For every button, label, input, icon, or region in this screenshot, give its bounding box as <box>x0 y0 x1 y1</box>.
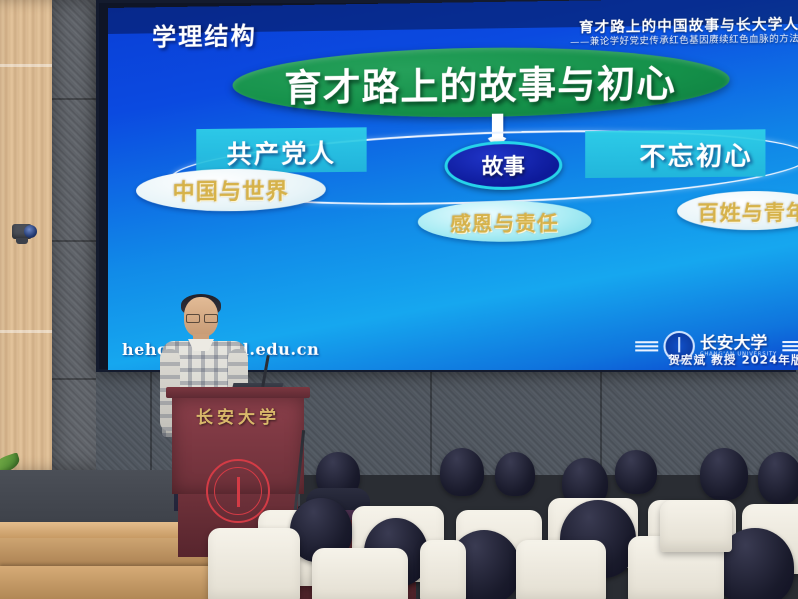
glasses-icon <box>186 314 216 321</box>
slide-label-center-bottom-text: 感恩与责任 <box>450 206 559 236</box>
logo-lines-left <box>635 341 658 351</box>
slide-label-left-bottom: 中国与世界 <box>136 168 326 212</box>
audience-head <box>758 452 798 504</box>
lectern-university-text: 长安大学 <box>172 403 304 428</box>
slide-section-heading: 学理结构 <box>152 16 257 53</box>
slide-header-subtitle: ——兼论学好党史传承红色基因赓续红色血脉的方法 <box>570 36 798 49</box>
lectern-top <box>166 387 310 398</box>
slide-main-ellipse: 育才路上的故事与初心 <box>233 44 730 119</box>
slide-footer-credit: 贺宏斌 教授 2024年版 <box>668 351 798 368</box>
logo-lines-right <box>782 341 798 351</box>
slide-label-left-bottom-text: 中国与世界 <box>173 173 289 206</box>
audience-seat <box>208 528 300 599</box>
slide-header: 育才路上的中国故事与长大学人 ——兼论学好党史传承红色基因赓续红色血脉的方法 <box>570 18 798 49</box>
audience-head <box>615 450 657 494</box>
audience-seat <box>312 548 408 599</box>
slide-label-left-top: 共产党人 <box>204 133 358 171</box>
slide-label-right-top: 不忘初心 <box>627 135 766 173</box>
slide-label-left-top-text: 共产党人 <box>226 134 336 171</box>
slide-label-right-bottom: 百姓与青年 <box>677 190 798 230</box>
audience-head <box>495 452 535 496</box>
slide-label-right-bottom-text: 百姓与青年 <box>698 195 798 226</box>
audience-head <box>440 448 484 496</box>
slide-label-right-top-text: 不忘初心 <box>639 136 752 174</box>
audience-seat <box>420 540 466 599</box>
audience-seat <box>660 500 732 552</box>
lecture-hall-scene: 学理结构 育才路上的中国故事与长大学人 ——兼论学好党史传承红色基因赓续红色血脉… <box>0 0 798 599</box>
wall-camera-icon <box>12 222 38 242</box>
audience-head <box>700 448 748 500</box>
slide-main-ellipse-text: 育才路上的故事与初心 <box>284 52 676 112</box>
slide-label-center-bottom: 感恩与责任 <box>418 200 592 242</box>
audience-seat <box>516 540 606 599</box>
university-name-cn: 长安大学 <box>700 335 777 352</box>
slide-center-node-text: 故事 <box>482 150 525 181</box>
